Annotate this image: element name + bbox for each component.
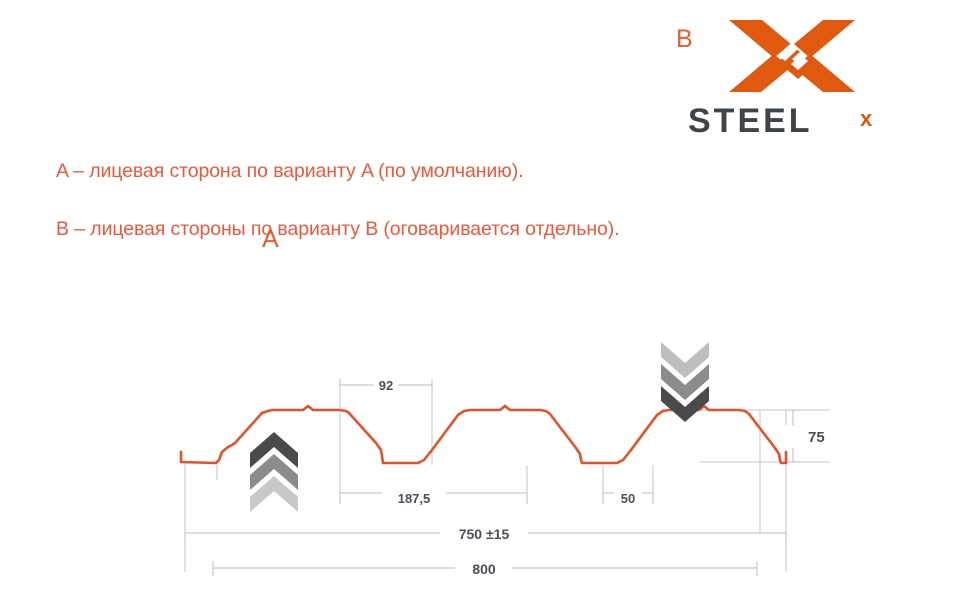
legend-line-b: B – лицевая стороны по варианту B (огова… — [56, 218, 619, 241]
dimension-75-label: 75 — [808, 429, 825, 446]
dimension-750-label: 750 ±15 — [459, 526, 510, 542]
dimension-800-label: 800 — [472, 561, 496, 577]
marker-a-label: A — [262, 225, 279, 254]
dimension-750: 750 ±15 — [185, 526, 786, 542]
brand-logo: STEEL x — [688, 18, 906, 140]
legend-line-a: A – лицевая сторона по варианту A (по ум… — [56, 160, 523, 183]
dimension-92-label: 92 — [379, 378, 393, 393]
steelx-x-mark-icon — [728, 18, 856, 94]
dimension-50-label: 50 — [621, 491, 635, 506]
dimension-92: 92 — [340, 378, 432, 393]
dimension-50: 50 — [603, 487, 653, 506]
wordmark-text: STEEL — [688, 102, 813, 140]
marker-b-label: B — [676, 25, 693, 54]
dimension-187-5-label: 187,5 — [398, 491, 431, 506]
dimension-187-5: 187,5 — [340, 487, 527, 506]
marker-a-chevrons — [250, 432, 298, 512]
profile-technical-drawing: 92 187,5 50 750 ±15 800 75 — [0, 280, 970, 597]
steelx-wordmark: STEEL x — [688, 102, 906, 140]
dimension-75: 75 — [787, 410, 825, 462]
dimension-800: 800 — [213, 561, 757, 577]
wordmark-suffix: x — [860, 106, 873, 131]
